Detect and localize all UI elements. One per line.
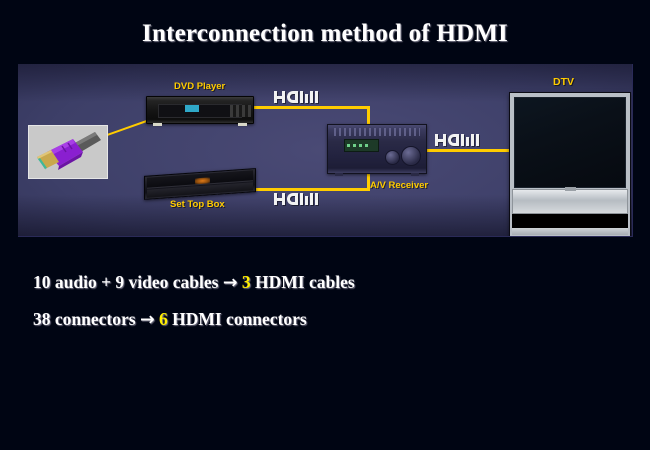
summary-line-2-arrow: →: [140, 310, 155, 330]
summary-line-2: 38 connectors → 6 HDMI connectors: [33, 309, 307, 330]
label-set-top-box: Set Top Box: [170, 199, 225, 210]
device-dvd-player: [146, 96, 254, 124]
avr-foot-left: [335, 173, 343, 176]
avr-vent-slots: [334, 128, 420, 136]
page-title: Interconnection method of HDMI: [0, 20, 650, 48]
summary-line-2-after: HDMI connectors: [172, 309, 307, 329]
device-dtv: [509, 92, 631, 237]
cable-dvd-to-avr-horizontal: [250, 106, 370, 109]
hdmi-logo-dvd-to-avr: [274, 91, 318, 103]
label-dtv: DTV: [553, 76, 574, 88]
label-dvd-player: DVD Player: [174, 81, 225, 92]
cable-stb-to-avr-horizontal: [250, 188, 370, 191]
summary-line-2-before: 38 connectors: [33, 309, 136, 329]
summary-line-2-count: 6: [159, 309, 168, 329]
summary-line-1-count: 3: [242, 272, 251, 292]
dvd-display: [185, 105, 199, 112]
summary-line-1-before: 10 audio + 9 video cables: [33, 272, 218, 292]
device-av-receiver: [327, 124, 427, 174]
avr-knob-large: [401, 146, 421, 166]
label-av-receiver: A/V Receiver: [370, 180, 428, 191]
dtv-control-strip: [512, 189, 628, 214]
summary-line-1: 10 audio + 9 video cables → 3 HDMI cable…: [33, 272, 355, 293]
avr-display: [344, 139, 379, 152]
dtv-screen: [514, 97, 626, 188]
hdmi-connector-inset: [28, 125, 108, 179]
summary-line-1-after: HDMI cables: [255, 272, 355, 292]
stb-indicator-glow: [195, 177, 210, 185]
avr-knob-small: [385, 150, 400, 165]
dvd-foot-left: [153, 123, 162, 126]
hdmi-logo-avr-to-dtv: [435, 134, 479, 146]
dtv-cabinet: [512, 214, 628, 228]
hdmi-logo-stb-to-avr: [274, 193, 318, 205]
dvd-foot-right: [238, 123, 247, 126]
avr-foot-right: [411, 173, 419, 176]
diagram-panel: DVD Player Set Top Box A/V Receiver DTV: [18, 64, 633, 237]
summary-line-1-arrow: →: [223, 273, 238, 293]
dtv-base: [512, 228, 628, 235]
dvd-buttons: [230, 105, 251, 117]
